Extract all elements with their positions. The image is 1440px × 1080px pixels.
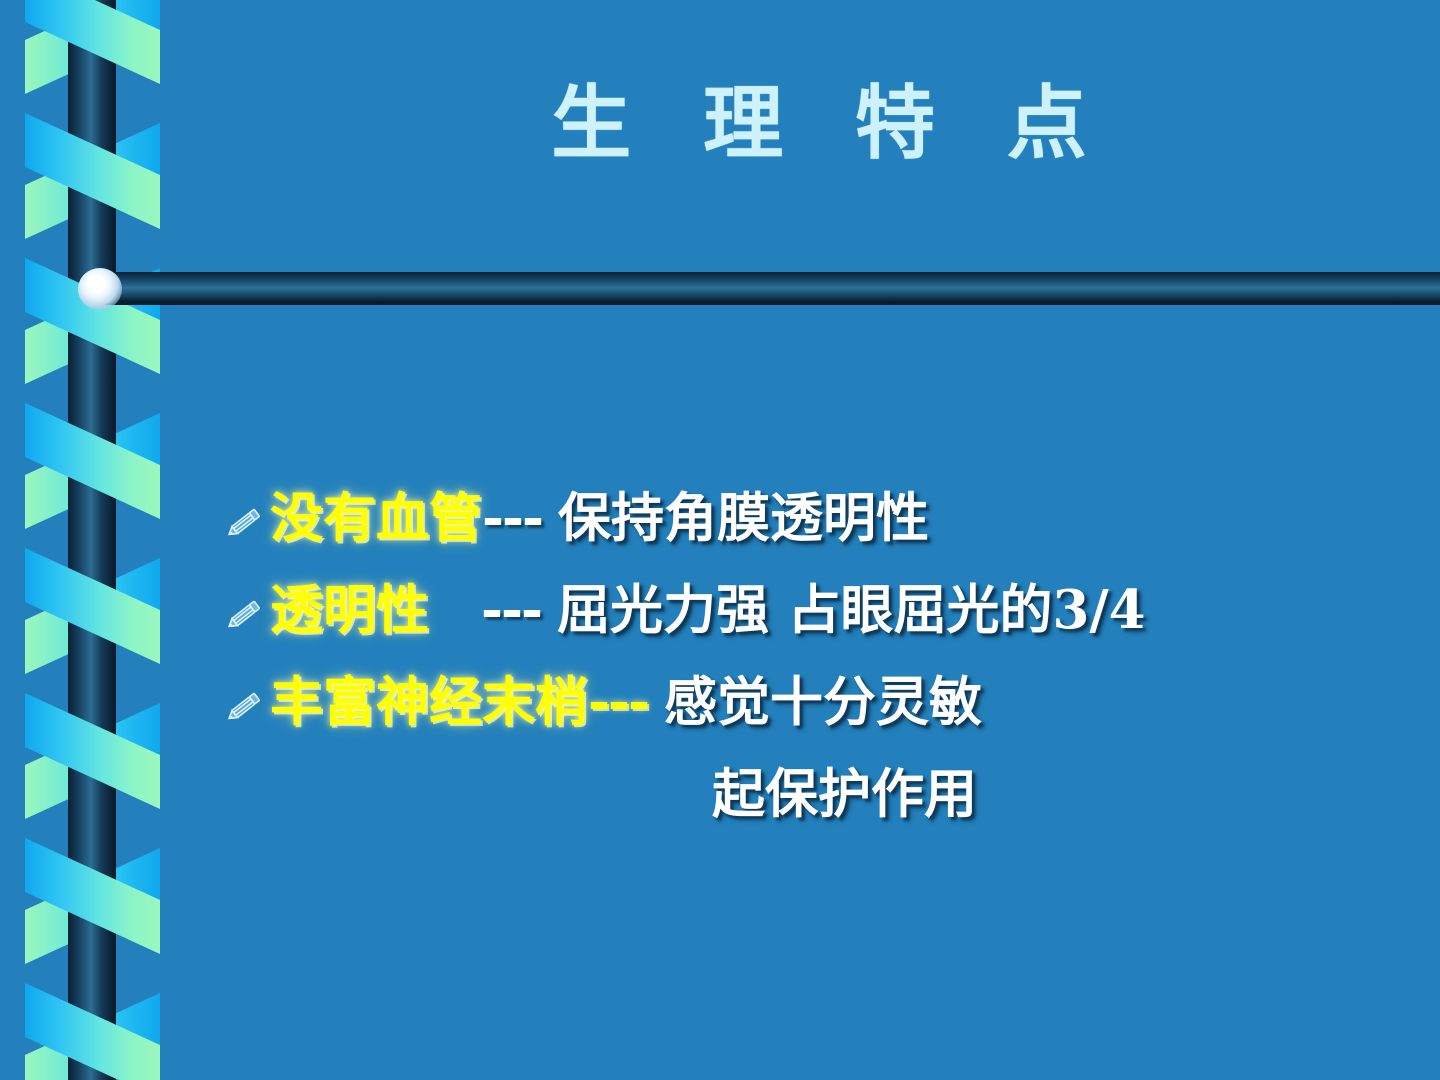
pencil-icon xyxy=(222,502,268,542)
ribbon-helix-decoration xyxy=(0,0,180,1080)
bullet-detail: 保持角膜透明性 xyxy=(558,492,929,545)
bullet-keyword: 没有血管 xyxy=(270,492,482,545)
bullet-separator: --- xyxy=(481,584,541,637)
presentation-slide: 生 理 特 点 没有血管 --- 保持角膜透明性 xyxy=(0,0,1440,1080)
bullet-keyword: 透明性 xyxy=(270,584,429,637)
bullet-separator: --- xyxy=(482,492,542,545)
bullet-detail: 屈光力强 占眼屈光的3/4 xyxy=(557,584,1146,637)
horizontal-divider-bar xyxy=(105,272,1440,305)
bullet-list: 没有血管 --- 保持角膜透明性 透明性 xyxy=(222,472,1402,840)
bullet-detail: 感觉十分灵敏 xyxy=(664,676,982,729)
list-item: 丰富神经末梢 --- 感觉十分灵敏 xyxy=(222,656,1402,748)
list-item-continuation: 起保护作用 xyxy=(222,748,1402,840)
page-title: 生 理 特 点 xyxy=(300,80,1360,166)
bullet-keyword: 丰富神经末梢 xyxy=(270,676,588,729)
bullet-separator: --- xyxy=(588,676,648,729)
divider-orb-icon xyxy=(78,268,122,310)
pencil-icon xyxy=(222,594,268,634)
continuation-text: 起保护作用 xyxy=(712,768,977,821)
list-item: 透明性 --- 屈光力强 占眼屈光的3/4 xyxy=(222,564,1402,656)
list-item: 没有血管 --- 保持角膜透明性 xyxy=(222,472,1402,564)
pencil-icon xyxy=(222,686,268,726)
